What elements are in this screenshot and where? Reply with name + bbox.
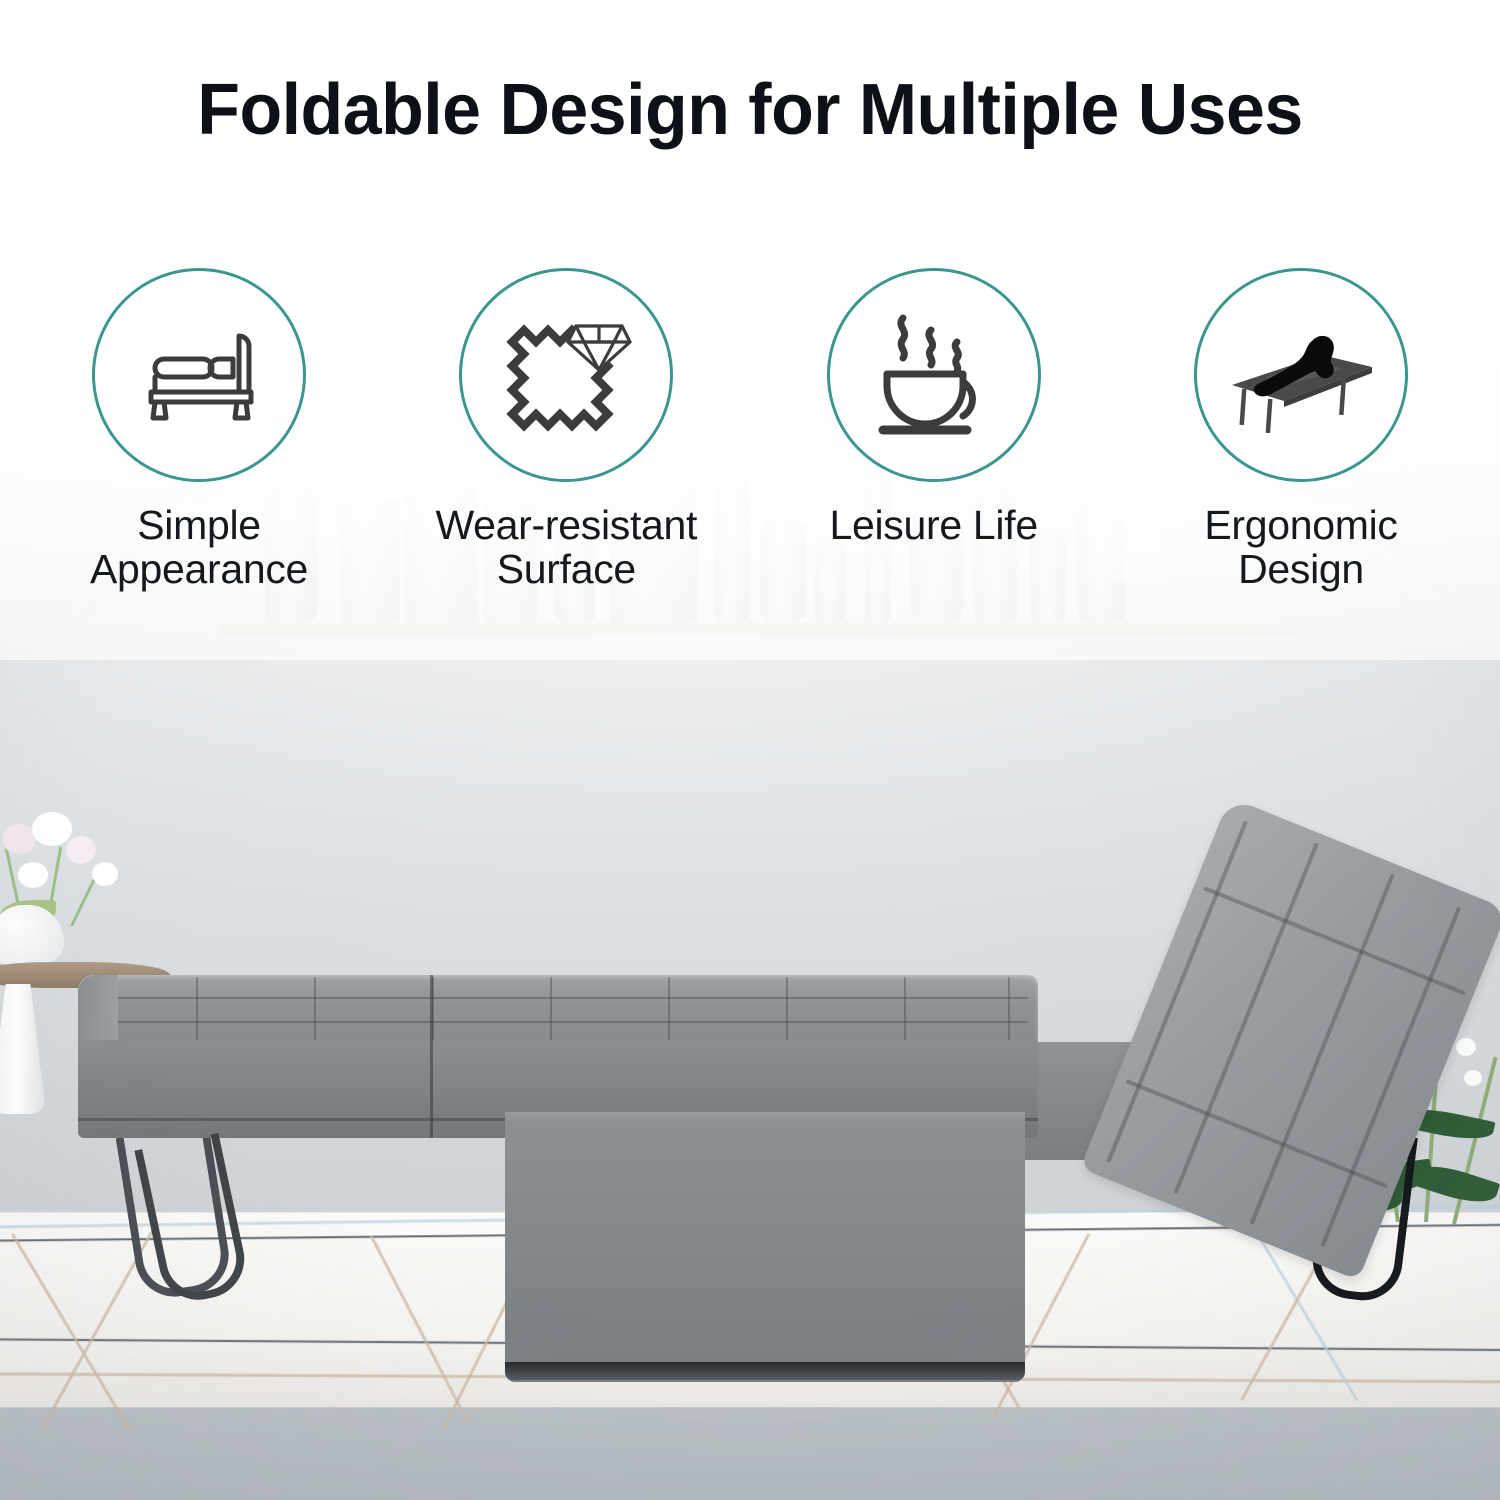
plant-flower (1456, 1038, 1476, 1056)
feature-item-simple-appearance: Simple Appearance (34, 268, 364, 598)
quilt-stitch (904, 977, 906, 1045)
quilt-stitch (314, 977, 316, 1045)
quilt-stitch (88, 1021, 1028, 1023)
shelf-ledge (220, 622, 1295, 635)
quilt-stitch (550, 977, 552, 1045)
feature-icon-circle (92, 268, 306, 482)
feature-label: Leisure Life (829, 503, 1037, 547)
sofa-skirt-shadow (505, 1362, 1025, 1380)
feature-item-wear-resistant-surface: Wear-resistant Surface (401, 268, 731, 598)
rug-line (370, 1235, 469, 1422)
quilt-stitch (668, 977, 670, 1045)
sofa-seat-top (78, 975, 1038, 1047)
backrest-channel (1250, 873, 1395, 1225)
quilt-stitch (1008, 977, 1010, 1045)
backrest-channel (1125, 1079, 1388, 1188)
coffee-cup-icon (869, 308, 999, 442)
bed-icon (133, 320, 265, 430)
backrest-channel (1203, 886, 1466, 995)
feature-icon-circle (459, 268, 673, 482)
fabric-swatch-diamond-icon (498, 312, 634, 438)
flower (92, 862, 118, 886)
feature-label: Wear-resistant Surface (436, 503, 698, 592)
feature-list: Simple Appearance (0, 268, 1500, 598)
person-reclining-lounger-icon (1226, 315, 1376, 435)
quilt-stitch (196, 977, 198, 1045)
feature-label: Simple Appearance (34, 503, 364, 592)
rug-line (11, 1233, 130, 1430)
backrest-channel (1174, 842, 1319, 1194)
feature-icon-circle (827, 268, 1041, 482)
feature-icon-circle (1194, 268, 1408, 482)
sofa-skirt-panel (505, 1120, 1025, 1382)
flower (32, 812, 72, 846)
flower (66, 836, 96, 864)
quilt-stitch (786, 977, 788, 1045)
sofa-panel-seam (430, 975, 433, 1138)
flower (2, 824, 36, 854)
page-title: Foldable Design for Multiple Uses (23, 74, 1478, 146)
feature-item-ergonomic-design: Ergonomic Design (1136, 268, 1466, 598)
feature-item-leisure-life: Leisure Life (769, 268, 1099, 598)
room-photo (0, 0, 1500, 1500)
plant-flower (1464, 1070, 1482, 1086)
flower (18, 862, 48, 888)
product-feature-image: Foldable Design for Multiple Uses (0, 0, 1500, 1500)
quilt-stitch (88, 997, 1028, 999)
feature-label: Ergonomic Design (1136, 503, 1466, 592)
